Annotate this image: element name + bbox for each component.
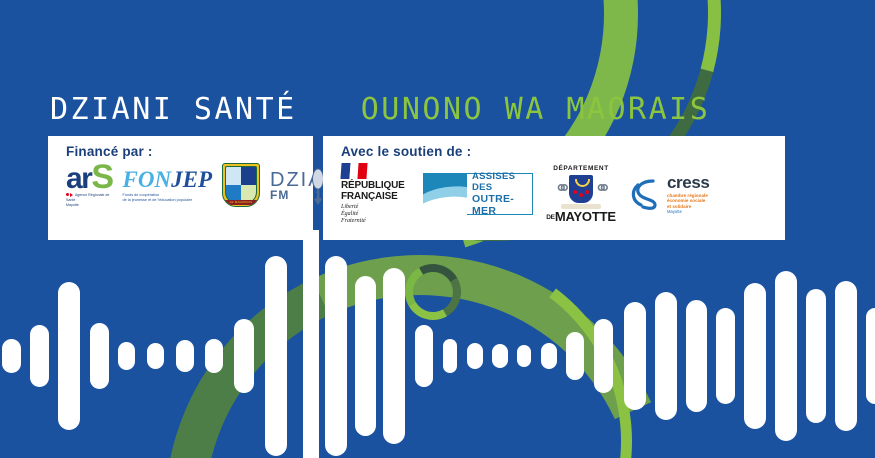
fonjep-subtitle-line2: de la jeunesse et de l'éducation populai… [123, 198, 193, 202]
fonjep-subtitle-line1: Fonds de coopération [123, 193, 160, 197]
poster-title: DZIANI SANTÉ OUNONO WA MAORAIS [0, 88, 875, 130]
waveform-bar [147, 343, 164, 369]
dziani-band-label: FM [270, 188, 289, 202]
waveform-bar [234, 319, 254, 393]
cress-subtitle: chambre régionaleéconomie socialeet soli… [667, 193, 709, 210]
title-shimaore: OUNONO WA MAORAIS [361, 92, 711, 127]
ars-word-accent: S [91, 158, 112, 196]
logo-ars: arS Agence Régionale de SantéMayotte [66, 164, 113, 209]
rf-motto-2: Égalité [341, 211, 358, 217]
rf-motto: LibertéÉgalitéFraternité [341, 204, 413, 225]
cress-sub-2: économie sociale [667, 198, 705, 203]
fonjep-subtitle: Fonds de coopérationde la jeunesse et de… [123, 193, 212, 203]
logo-republique-francaise: RÉPUBLIQUEFRANÇAISE LibertéÉgalitéFrater… [341, 163, 413, 225]
audio-waveform [0, 258, 875, 458]
banner-divider-notch [295, 240, 303, 250]
fonjep-wordmark: FONJEP [123, 169, 212, 191]
waveform-bar [176, 340, 194, 372]
cress-wordmark: cress [667, 174, 709, 191]
waveform-bar [541, 343, 557, 369]
banner-divider [303, 238, 319, 458]
mayotte-name: DEMAYOTTE [543, 209, 619, 224]
rf-line2: FRANÇAISE [341, 191, 398, 202]
ars-subtitle-line2: Mayotte [66, 203, 79, 207]
fonjep-word-light: FON [123, 167, 172, 192]
coat-of-arms-motto: LE MAHORAIS [224, 200, 258, 205]
title-french: DZIANI SANTÉ [50, 92, 297, 127]
seahorse-left-icon: ⚭ [554, 174, 568, 204]
waveform-bar [443, 339, 457, 373]
logo-fonjep: FONJEP Fonds de coopérationde la jeuness… [123, 169, 212, 203]
funders-banner: Financé par : arS Agence Régionale de Sa… [48, 136, 313, 240]
cress-swirl-icon [629, 177, 663, 211]
crest-star-1-icon [573, 190, 577, 194]
crescent-moon-icon [575, 179, 590, 187]
cress-sub-3: et solidaire [667, 204, 691, 209]
logo-cress: cress chambre régionaleéconomie socialee… [629, 174, 733, 215]
supporters-logo-row: RÉPUBLIQUEFRANÇAISE LibertéÉgalitéFrater… [341, 163, 785, 225]
waveform-bar [594, 319, 613, 393]
waveform-bar [415, 325, 433, 387]
ars-subtitle: Agence Régionale de SantéMayotte [66, 193, 113, 209]
waveform-bar [775, 271, 797, 441]
waveform-bar [655, 292, 677, 420]
funders-logo-row: arS Agence Régionale de SantéMayotte FON… [66, 163, 313, 209]
waveform-bar [835, 281, 857, 431]
waveform-bar [325, 256, 347, 456]
coat-of-arms-quadrants [225, 166, 257, 204]
waveform-bar [118, 342, 135, 370]
rf-line1: RÉPUBLIQUE [341, 180, 405, 191]
waveform-bar [2, 339, 21, 373]
waveform-bar [205, 339, 223, 373]
ars-word-main: ar [66, 162, 91, 195]
french-flag-icon [340, 163, 367, 179]
supporters-banner: Avec le soutien de : RÉPUBLIQUEFRANÇAISE… [323, 136, 785, 240]
waveform-bar [517, 345, 531, 367]
wave-icon [423, 173, 467, 215]
waveform-bar [624, 302, 646, 410]
fonjep-word-dark: JEP [171, 167, 212, 192]
departement-de: DE [546, 214, 555, 221]
waveform-bar [686, 300, 707, 412]
crest-star-3-icon [585, 190, 589, 194]
assises-line1: ASSISES DES [472, 171, 532, 193]
waveform-bar [716, 308, 735, 404]
flag-red-stripe [358, 163, 368, 179]
rf-title: RÉPUBLIQUEFRANÇAISE [341, 181, 413, 202]
crest-quadrant-2 [241, 167, 256, 185]
waveform-bar [744, 283, 766, 429]
waveform-bar [30, 325, 49, 387]
logo-assises-outre-mer: ASSISES DES OUTRE-MER [423, 173, 533, 215]
rf-motto-3: Fraternité [341, 218, 366, 224]
crest-star-2-icon [579, 193, 583, 197]
cress-text-block: cress chambre régionaleéconomie socialee… [667, 174, 709, 215]
assises-text-block: ASSISES DES OUTRE-MER [467, 173, 533, 215]
waveform-bar [566, 332, 584, 380]
poster-canvas: DZIANI SANTÉ OUNONO WA MAORAIS Financé p… [0, 0, 875, 458]
waveform-bar [492, 344, 508, 368]
waveform-bar [866, 308, 875, 404]
seahorse-right-icon: ⚭ [594, 174, 608, 204]
waveform-bar [355, 276, 376, 436]
mayotte-label: MAYOTTE [555, 209, 616, 224]
supporters-heading: Avec le soutien de : [341, 144, 785, 159]
waveform-bar [383, 268, 405, 444]
assises-line2: OUTRE-MER [472, 193, 532, 217]
waveform-bar [467, 343, 483, 369]
departement-label: DÉPARTEMENT [543, 165, 619, 172]
coat-of-arms-icon: LE MAHORAIS [222, 163, 260, 207]
crest-quadrant-1 [226, 167, 241, 185]
waveform-bar [265, 256, 287, 456]
cress-sub-1: chambre régionale [667, 193, 708, 198]
cress-location: Mayotte [667, 210, 709, 214]
ars-triangle-icon [70, 193, 73, 197]
waveform-bar [58, 282, 80, 430]
mayotte-shield-icon [569, 175, 593, 203]
mayotte-crest-icon: ⚭ ⚭ [543, 172, 619, 206]
ars-wordmark: arS [66, 164, 113, 192]
waveform-bar [90, 323, 109, 389]
waveform-bar [806, 289, 826, 423]
logo-coat-of-arms: LE MAHORAIS [222, 163, 260, 209]
logo-departement-mayotte: DÉPARTEMENT ⚭ ⚭ DEMAYOTTE [543, 165, 619, 224]
ars-dot-icon [66, 193, 69, 196]
rf-motto-1: Liberté [341, 204, 358, 210]
